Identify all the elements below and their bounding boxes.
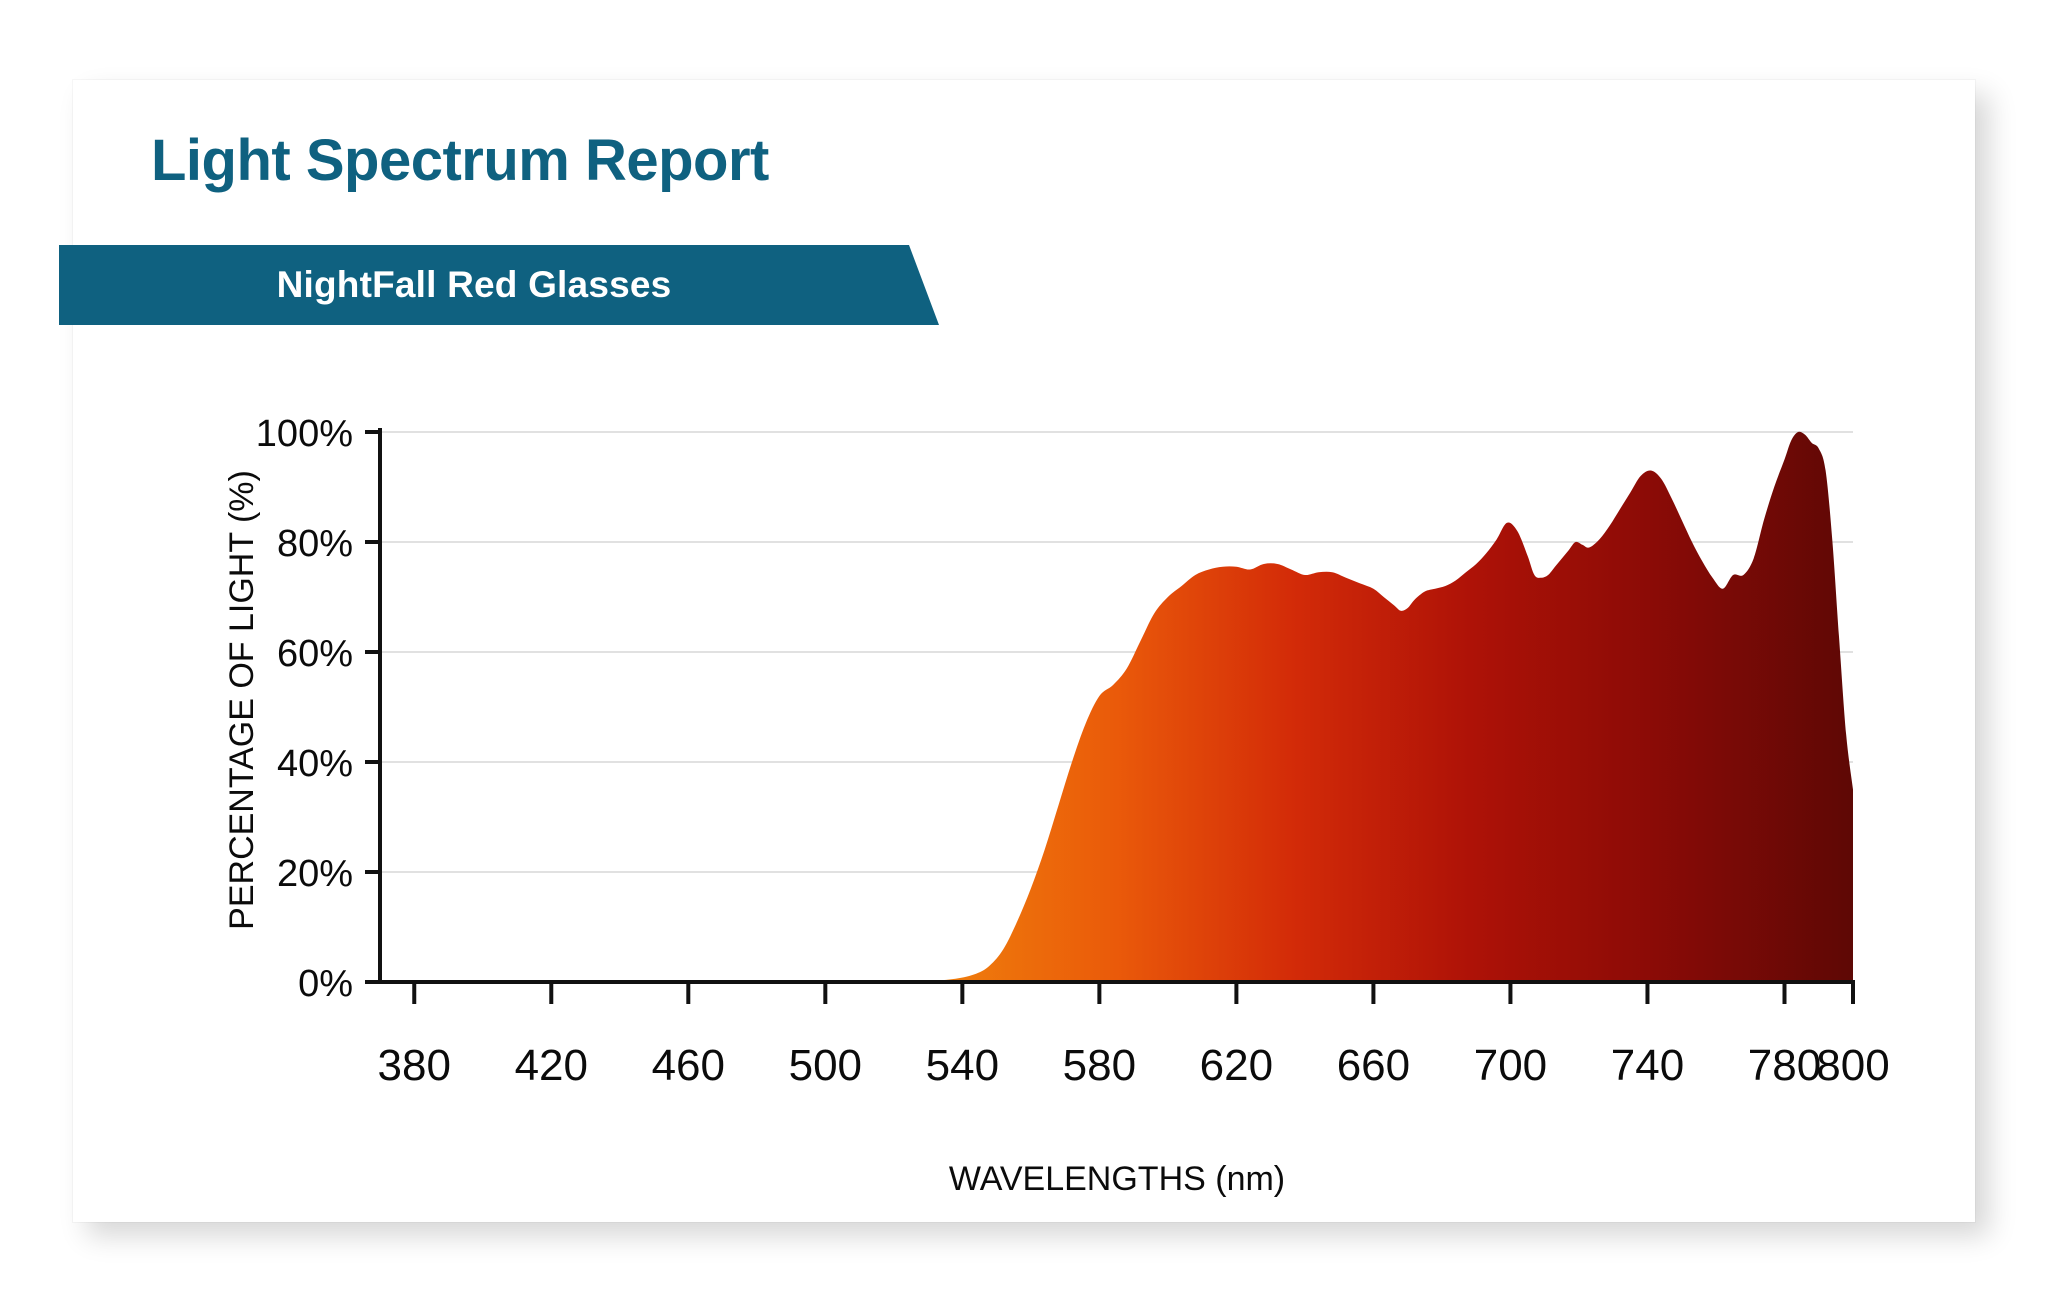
x-tick-label: 660 — [1337, 1041, 1410, 1090]
x-tick-label: 800 — [1816, 1041, 1889, 1090]
x-tick-label: 700 — [1474, 1041, 1547, 1090]
x-tick-label: 420 — [515, 1041, 588, 1090]
y-axis-ticks — [365, 432, 380, 982]
x-tick-label: 740 — [1611, 1041, 1684, 1090]
y-tick-label: 0% — [298, 963, 353, 1005]
x-tick-label: 380 — [378, 1041, 451, 1090]
y-tick-label: 100% — [256, 413, 353, 455]
spectrum-chart: 100% 80% 60% 40% 20% 0% 3804204605005405… — [73, 80, 1975, 1222]
x-axis-ticks — [414, 982, 1853, 1004]
y-tick-label: 20% — [277, 853, 353, 895]
y-axis-title: PERCENTAGE OF LIGHT (%) — [223, 470, 261, 930]
report-card: Light Spectrum Report NightFall Red Glas… — [73, 80, 1975, 1222]
y-tick-label: 80% — [277, 523, 353, 565]
x-tick-label: 460 — [652, 1041, 725, 1090]
x-tick-label: 620 — [1200, 1041, 1273, 1090]
page-root: Light Spectrum Report NightFall Red Glas… — [0, 0, 2048, 1302]
y-tick-label: 40% — [277, 743, 353, 785]
x-tick-label: 580 — [1063, 1041, 1136, 1090]
x-tick-labels: 380420460500540580620660700740780800 — [378, 1041, 1890, 1090]
series-area-transmission — [380, 432, 1853, 982]
y-tick-labels: 100% 80% 60% 40% 20% 0% — [256, 413, 353, 1005]
x-axis-title: WAVELENGTHS (nm) — [949, 1160, 1285, 1198]
x-tick-label: 540 — [926, 1041, 999, 1090]
x-tick-label: 780 — [1748, 1041, 1821, 1090]
y-tick-label: 60% — [277, 633, 353, 675]
x-tick-label: 500 — [789, 1041, 862, 1090]
